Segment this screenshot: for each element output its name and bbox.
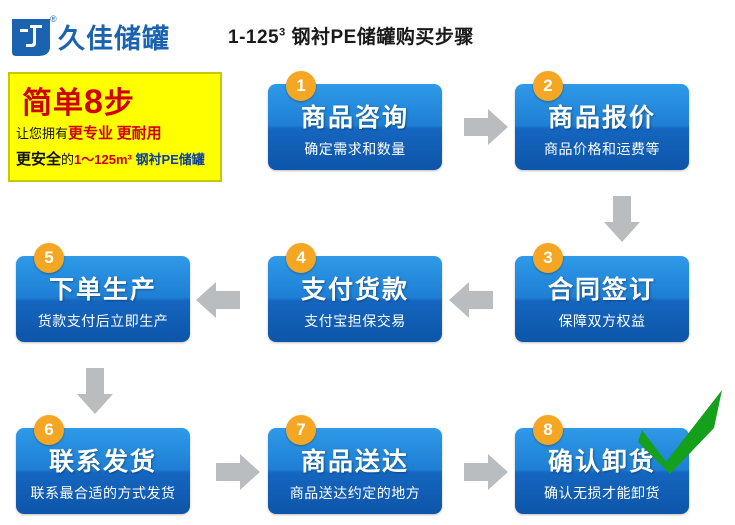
step-subtitle-6: 联系最合适的方式发货	[16, 483, 190, 503]
arrow-step2-to-step3	[613, 196, 631, 222]
step-badge-2: 2	[533, 71, 563, 101]
arrow-step3-to-step4	[469, 291, 493, 309]
promo-subline-2: 更安全的1～125m³ 钢衬PE储罐	[16, 148, 205, 169]
logo-text: 久佳储罐	[58, 17, 170, 56]
step-card-7[interactable]: 7 商品送达 商品送达约定的地方	[268, 428, 442, 514]
step-subtitle-2: 商品价格和运费等	[515, 139, 689, 159]
step-subtitle-5: 货款支付后立即生产	[16, 311, 190, 331]
promo-headline-b: 步	[104, 87, 135, 120]
promo-sub1-b: 更专业	[68, 125, 113, 142]
check-mark-icon	[636, 386, 728, 474]
step-title-1: 商品咨询	[268, 98, 442, 134]
step-title-3: 合同签订	[515, 270, 689, 306]
step-title-7: 商品送达	[268, 442, 442, 478]
page-header: 久佳储罐 ® 1-1253 钢衬PE储罐购买步骤	[0, 0, 735, 68]
promo-banner: 简单8步 让您拥有更专业 更耐用 更安全的1～125m³ 钢衬PE储罐	[8, 72, 222, 182]
page-title-superscript: 3	[279, 27, 286, 39]
registered-trademark-icon: ®	[50, 14, 57, 24]
arrow-step6-to-step7	[216, 463, 240, 481]
step-subtitle-8: 确认无损才能卸货	[515, 483, 689, 503]
step-title-2: 商品报价	[515, 98, 689, 134]
step-title-5: 下单生产	[16, 270, 190, 306]
step-badge-8: 8	[533, 415, 563, 445]
step-subtitle-7: 商品送达约定的地方	[268, 483, 442, 503]
promo-headline: 简单8步	[22, 78, 135, 122]
page-title-prefix: 1-125	[228, 27, 279, 48]
step-badge-7: 7	[286, 415, 316, 445]
promo-sub1-d: 更耐用	[117, 125, 162, 142]
step-subtitle-1: 确定需求和数量	[268, 139, 442, 159]
step-card-4[interactable]: 4 支付货款 支付宝担保交易	[268, 256, 442, 342]
arrow-step1-to-step2	[464, 118, 488, 136]
step-badge-4: 4	[286, 243, 316, 273]
page-title: 1-1253 钢衬PE储罐购买步骤	[228, 22, 474, 49]
step-card-2[interactable]: 2 商品报价 商品价格和运费等	[515, 84, 689, 170]
promo-subline-1: 让您拥有更专业 更耐用	[16, 122, 162, 143]
company-logo: 久佳储罐 ®	[8, 12, 228, 60]
step-card-5[interactable]: 5 下单生产 货款支付后立即生产	[16, 256, 190, 342]
step-card-3[interactable]: 3 合同签订 保障双方权益	[515, 256, 689, 342]
page-title-rest: 钢衬PE储罐购买步骤	[286, 27, 474, 48]
promo-sub2-a: 更安全	[16, 151, 61, 168]
arrow-step5-to-step6	[86, 368, 104, 394]
promo-sub1-a: 让您拥有	[16, 126, 68, 141]
promo-sub2-c: 1～125m³	[74, 152, 132, 167]
step-badge-6: 6	[34, 415, 64, 445]
promo-sub2-d: 钢衬PE储罐	[132, 152, 205, 167]
step-title-6: 联系发货	[16, 442, 190, 478]
step-badge-5: 5	[34, 243, 64, 273]
arrow-step7-to-step8	[464, 463, 488, 481]
promo-headline-number: 8	[84, 83, 104, 121]
step-card-1[interactable]: 1 商品咨询 确定需求和数量	[268, 84, 442, 170]
arrow-step4-to-step5	[216, 291, 240, 309]
step-subtitle-3: 保障双方权益	[515, 311, 689, 331]
promo-sub2-b: 的	[61, 152, 74, 167]
promo-headline-a: 简单	[22, 87, 84, 120]
step-badge-3: 3	[533, 243, 563, 273]
step-title-4: 支付货款	[268, 270, 442, 306]
step-subtitle-4: 支付宝担保交易	[268, 311, 442, 331]
step-card-6[interactable]: 6 联系发货 联系最合适的方式发货	[16, 428, 190, 514]
step-badge-1: 1	[286, 71, 316, 101]
logo-mark-icon	[8, 13, 54, 59]
